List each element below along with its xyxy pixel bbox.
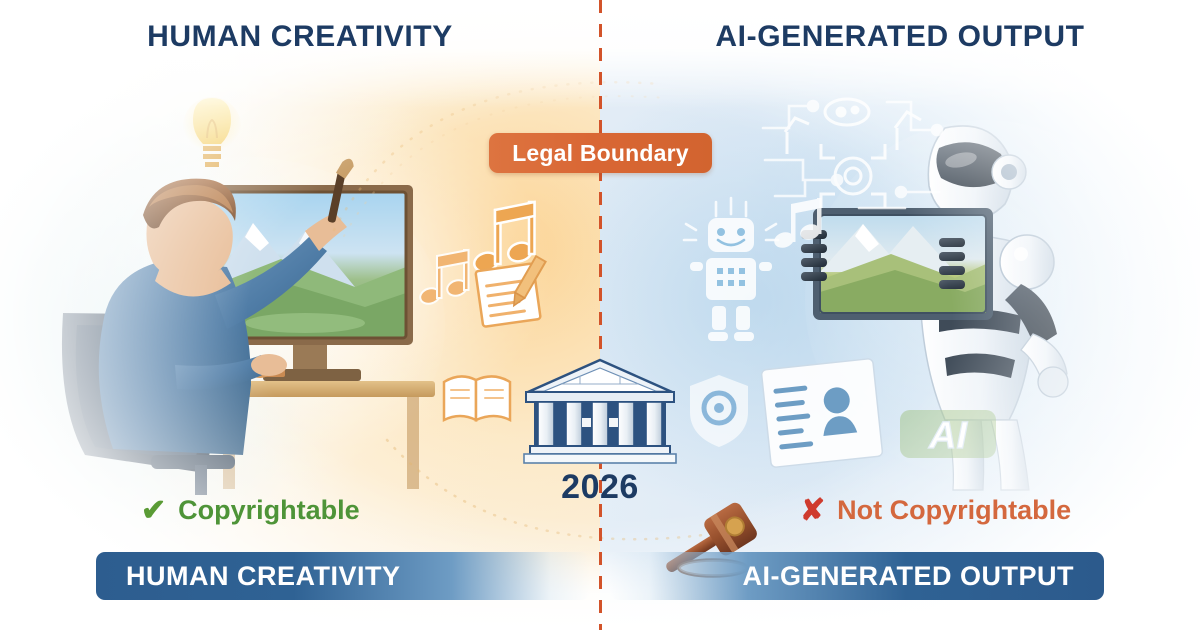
courthouse-icon (520, 358, 680, 468)
cross-icon: ✘ (800, 496, 825, 526)
legal-boundary-badge: Legal Boundary (489, 133, 712, 173)
status-not-copyrightable-label: Not Copyrightable (837, 495, 1071, 526)
robot-tablet (813, 208, 993, 320)
status-copyrightable-label: Copyrightable (178, 495, 360, 526)
right-panel-title: AI-GENERATED OUTPUT (600, 20, 1200, 54)
robot-glyph-icon (682, 196, 780, 344)
shield-icon (686, 372, 752, 450)
ai-badge: AI (898, 406, 998, 462)
music-note-icon (772, 196, 824, 252)
book-icon (438, 368, 516, 428)
dashed-divider (599, 0, 602, 630)
bottom-bar-ai: AI-GENERATED OUTPUT (610, 552, 1104, 600)
status-copyrightable: ✔ Copyrightable (141, 495, 360, 526)
bottom-bar-human: HUMAN CREATIVITY (96, 552, 590, 600)
year-label: 2026 (520, 468, 680, 507)
infographic-canvas: AI (0, 0, 1200, 630)
document-pencil-icon (475, 258, 557, 330)
left-panel-title: HUMAN CREATIVITY (0, 20, 600, 54)
ai-badge-text: AI (928, 415, 968, 457)
check-icon: ✔ (141, 496, 166, 526)
id-card-icon (762, 358, 884, 468)
music-note-icon (417, 248, 479, 310)
status-not-copyrightable: ✘ Not Copyrightable (800, 495, 1071, 526)
